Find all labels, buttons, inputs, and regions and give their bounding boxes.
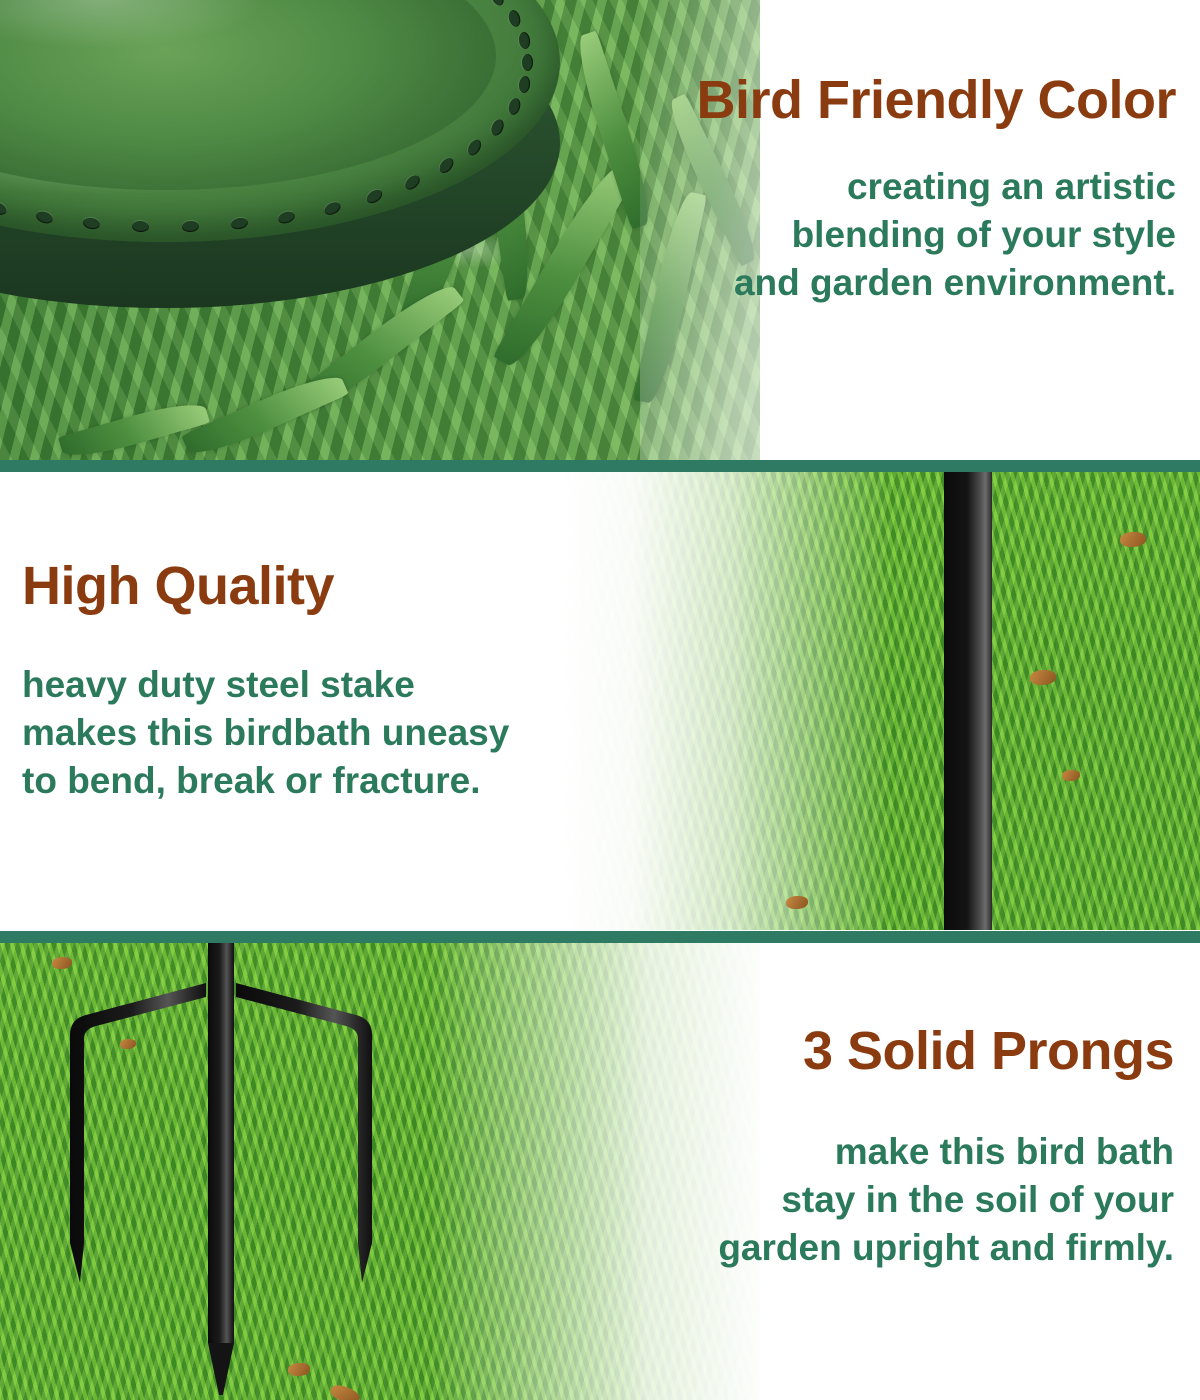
panel-three-solid-prongs: 3 Solid Prongs make this bird bath stay …: [0, 943, 1200, 1400]
panel-3-text: 3 Solid Prongs make this bird bath stay …: [718, 1023, 1174, 1272]
three-prong-stake: [0, 943, 560, 1400]
panel-1-text: Bird Friendly Color creating an artistic…: [696, 72, 1176, 307]
dry-leaf: [120, 1039, 136, 1049]
product-infographic: Bird Friendly Color creating an artistic…: [0, 0, 1200, 1400]
body-line: to bend, break or fracture.: [22, 757, 509, 805]
panel-2-text: High Quality heavy duty steel stake make…: [22, 558, 509, 805]
panel-1-body: creating an artistic blending of your st…: [696, 163, 1176, 307]
body-line: stay in the soil of your: [718, 1176, 1174, 1224]
panel-3-body: make this bird bath stay in the soil of …: [718, 1128, 1174, 1272]
panel-high-quality: High Quality heavy duty steel stake make…: [0, 472, 1200, 930]
body-line: makes this birdbath uneasy: [22, 709, 509, 757]
panel-divider-1: [0, 460, 1200, 472]
center-prong-tip: [208, 1343, 234, 1395]
right-prong: [236, 983, 372, 1283]
birdbath-bowl: [0, 0, 560, 352]
body-line: make this bird bath: [718, 1128, 1174, 1176]
dry-leaf: [1062, 770, 1080, 781]
body-line: and garden environment.: [696, 259, 1176, 307]
body-line: garden upright and firmly.: [718, 1224, 1174, 1272]
panel-3-heading: 3 Solid Prongs: [718, 1023, 1174, 1080]
panel-bird-friendly-color: Bird Friendly Color creating an artistic…: [0, 0, 1200, 460]
body-line: heavy duty steel stake: [22, 661, 509, 709]
panel-2-heading: High Quality: [22, 558, 509, 615]
left-prong: [70, 983, 206, 1283]
steel-pole: [944, 472, 992, 930]
panel-1-heading: Bird Friendly Color: [696, 72, 1176, 129]
center-pole: [208, 943, 234, 1343]
dry-leaf: [1120, 532, 1146, 547]
panel-divider-2: [0, 931, 1200, 943]
drainage-hole: [522, 54, 533, 71]
dry-leaf: [786, 896, 808, 909]
panel-2-body: heavy duty steel stake makes this birdba…: [22, 661, 509, 805]
dry-leaf: [52, 957, 72, 969]
body-line: creating an artistic: [696, 163, 1176, 211]
body-line: blending of your style: [696, 211, 1176, 259]
dry-leaf: [1030, 670, 1056, 685]
photo-white-fade: [560, 472, 890, 930]
dry-leaf: [288, 1363, 310, 1376]
